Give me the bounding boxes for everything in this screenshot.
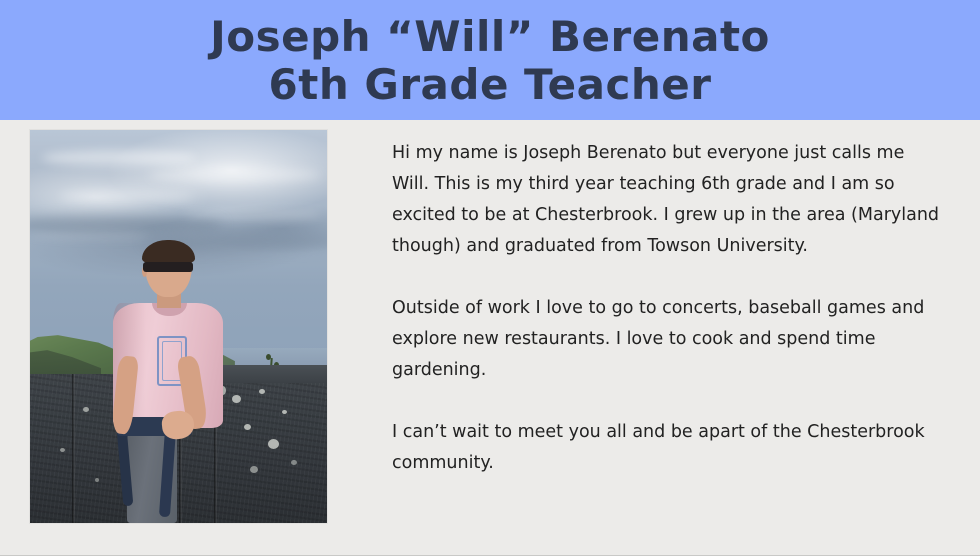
stone-seam (72, 374, 75, 523)
weed-head (266, 354, 271, 360)
cloud-streak-icon (60, 190, 194, 201)
lichen-spot (282, 410, 287, 414)
cloud-streak-icon (42, 150, 196, 166)
teacher-photo (30, 130, 327, 523)
content-area: Hi my name is Joseph Berenato but everyo… (0, 120, 980, 556)
page-title-line-2: 6th Grade Teacher (269, 61, 712, 109)
lichen-spot (268, 439, 279, 449)
clasped-hands (161, 410, 196, 441)
lichen-spot (83, 407, 89, 412)
lichen-spot (259, 389, 265, 394)
page-header-banner: Joseph “Will” Berenato 6th Grade Teacher (0, 0, 980, 120)
sunglasses-icon (143, 262, 193, 271)
dark-cloud-band (30, 215, 223, 235)
cloud-streak-icon (184, 208, 321, 219)
bio-paragraph-1: Hi my name is Joseph Berenato but everyo… (392, 138, 944, 262)
cloud-streak-icon (149, 168, 321, 181)
photo-scene (30, 130, 327, 523)
person-figure (107, 244, 232, 523)
teacher-bio-page: Joseph “Will” Berenato 6th Grade Teacher (0, 0, 980, 556)
bio-paragraph-2: Outside of work I love to go to concerts… (392, 293, 944, 386)
page-title-line-1: Joseph “Will” Berenato (210, 13, 770, 61)
bio-paragraph-3: I can’t wait to meet you all and be apar… (392, 417, 944, 479)
bio-text-block: Hi my name is Joseph Berenato but everyo… (392, 138, 944, 479)
lichen-spot (232, 395, 241, 403)
